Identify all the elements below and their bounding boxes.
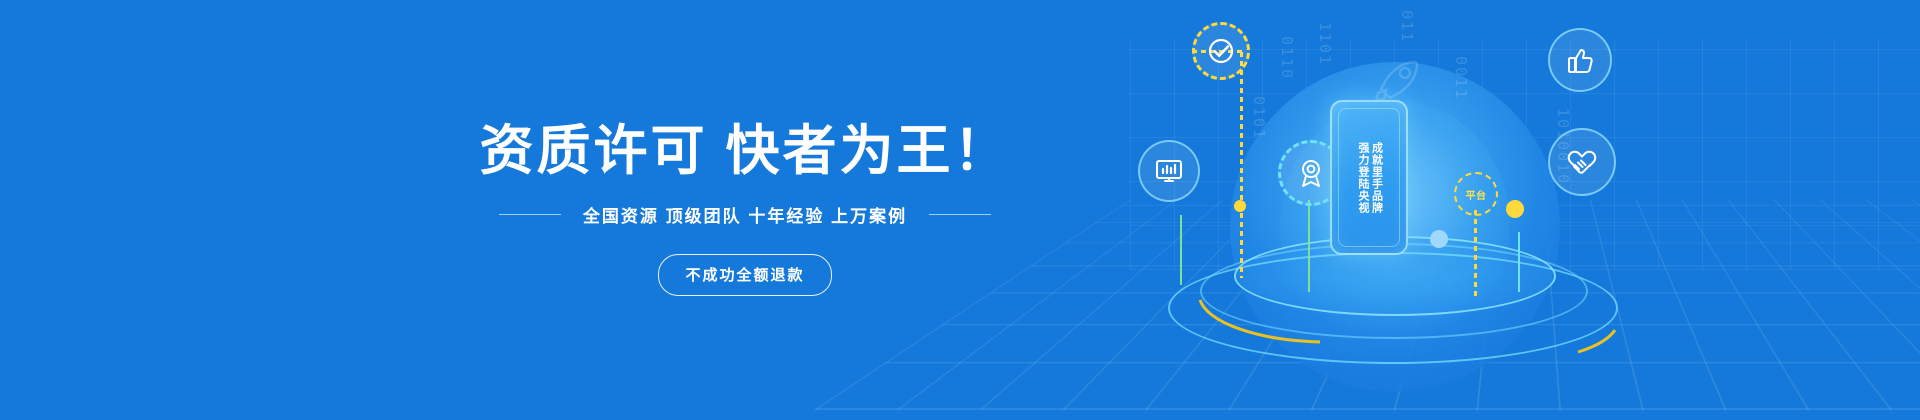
rule-left <box>499 214 561 215</box>
stem-right <box>1518 232 1520 292</box>
rule-right <box>929 214 991 215</box>
handshake-heart-icon[interactable] <box>1548 128 1616 196</box>
promo-banner: 0110 1101 011 0011 1010010 0101 <box>0 0 1920 420</box>
banner-copy: 资质许可 快者为王！ 全国资源 顶级团队 十年经验 上万案例 不成功全额退款 <box>0 0 1470 420</box>
banner-subtitle: 全国资源 顶级团队 十年经验 上万案例 <box>583 202 907 227</box>
page-title: 资质许可 快者为王！ <box>479 124 1010 178</box>
connector-tag-stem <box>1474 210 1477 298</box>
subtitle-row: 全国资源 顶级团队 十年经验 上万案例 <box>499 202 991 227</box>
node-dot-yellow <box>1506 200 1524 218</box>
thumbs-up-icon[interactable] <box>1548 28 1612 92</box>
refund-guarantee-button[interactable]: 不成功全额退款 <box>658 254 831 296</box>
